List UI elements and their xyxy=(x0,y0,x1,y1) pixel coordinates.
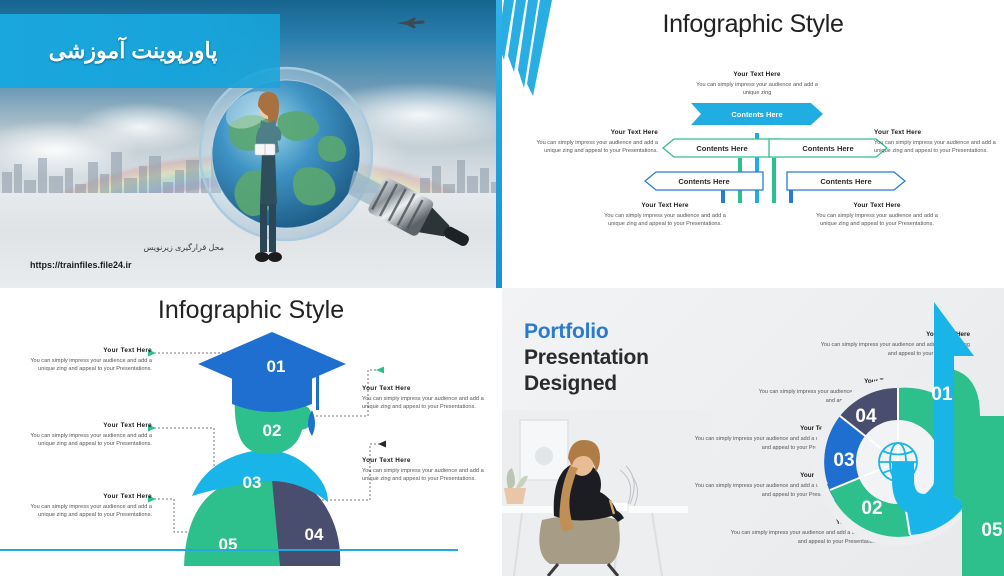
text-block-left-mid: Your Text Here You can simply impress yo… xyxy=(536,128,658,156)
segment-number-03: 03 xyxy=(833,450,854,471)
step-number-02: 02 xyxy=(263,421,282,440)
text-block-1: Your Text Here You can simply impress yo… xyxy=(12,346,152,374)
text-block-right-bottom: Your Text Here You can simply impress yo… xyxy=(812,201,942,229)
banner-label-1: Contents Here xyxy=(731,110,782,119)
page-title: Infographic Style xyxy=(502,10,1004,39)
text-block-heading: Your Text Here xyxy=(362,384,494,393)
text-block-4: Your Text Here You can simply impress yo… xyxy=(362,456,494,484)
text-block-heading: Your Text Here xyxy=(874,128,996,137)
cover-title: پاورپوینت آموزشی xyxy=(0,14,266,88)
text-block-body: You can simply impress your audience and… xyxy=(362,467,494,483)
text-block-heading: Your Text Here xyxy=(536,128,658,137)
text-block-heading: Your Text Here xyxy=(12,492,152,501)
banner-label-2: Contents Here xyxy=(696,144,747,153)
banner-contents-2[interactable]: Contents Here xyxy=(662,138,782,158)
segment-number-05: 05 xyxy=(981,520,1003,541)
lightbulb-earth-image xyxy=(178,62,478,252)
portfolio-title-line2: Presentation xyxy=(524,346,649,370)
text-block-heading: Your Text Here xyxy=(12,421,152,430)
student-girl-image xyxy=(246,86,290,266)
stem-05 xyxy=(789,190,793,203)
text-block-body: You can simply impress your audience and… xyxy=(874,139,996,155)
woman-at-desk-photo xyxy=(502,410,712,576)
baseline-accent xyxy=(0,549,458,551)
step-number-04: 04 xyxy=(305,525,324,544)
portfolio-slide[interactable]: Portfolio Presentation Designed xyxy=(502,288,1004,576)
text-block-heading: Your Text Here xyxy=(692,70,822,79)
text-block-3: Your Text Here You can simply impress yo… xyxy=(12,421,152,449)
head-infographic-slide[interactable]: Infographic Style Contents Here Contents… xyxy=(502,0,1004,288)
slide-grid: پاورپوینت آموزشی محل قرارگیری زیرنویس ht… xyxy=(0,0,1004,576)
cover-url[interactable]: https://trainfiles.file24.ir xyxy=(30,260,132,270)
text-block-right-mid: Your Text Here You can simply impress yo… xyxy=(874,128,996,156)
graduate-infographic-slide[interactable]: Infographic Style xyxy=(0,288,502,576)
text-block-heading: Your Text Here xyxy=(600,201,730,210)
text-block-body: You can simply impress your audience and… xyxy=(12,432,152,448)
portfolio-title-line3: Designed xyxy=(524,372,617,396)
segment-number-01b: 01 xyxy=(931,384,953,405)
banner-contents-3[interactable]: Contents Here xyxy=(768,138,888,158)
step-number-05: 05 xyxy=(219,535,238,554)
banner-contents-5[interactable]: Contents Here xyxy=(786,171,906,191)
text-block-2: Your Text Here You can simply impress yo… xyxy=(362,384,494,412)
text-block-heading: Your Text Here xyxy=(362,456,494,465)
banner-contents-1[interactable]: Contents Here xyxy=(691,103,823,125)
cover-slide[interactable]: پاورپوینت آموزشی محل قرارگیری زیرنویس ht… xyxy=(0,0,502,288)
text-block-heading: Your Text Here xyxy=(12,346,152,355)
airplane-icon xyxy=(396,17,426,29)
text-block-body: You can simply impress your audience and… xyxy=(600,212,730,228)
banner-label-3: Contents Here xyxy=(802,144,853,153)
text-block-body: You can simply impress your audience and… xyxy=(692,81,822,97)
text-block-top: Your Text Here You can simply impress yo… xyxy=(692,70,822,98)
banner-label-4: Contents Here xyxy=(678,177,729,186)
text-block-body: You can simply impress your audience and… xyxy=(362,395,494,411)
text-block-body: You can simply impress your audience and… xyxy=(12,357,152,373)
text-block-left-bottom: Your Text Here You can simply impress yo… xyxy=(600,201,730,229)
text-block-body: You can simply impress your audience and… xyxy=(536,139,658,155)
page-title: Infographic Style xyxy=(0,296,502,325)
text-block-body: You can simply impress your audience and… xyxy=(12,503,152,519)
up-arrow-icon: 01 05 xyxy=(874,296,1004,576)
portfolio-title-accent: Portfolio xyxy=(524,320,609,344)
step-number-01: 01 xyxy=(267,357,286,376)
banner-contents-4[interactable]: Contents Here xyxy=(644,171,764,191)
graduate-figure: 01 02 03 04 05 xyxy=(176,330,376,566)
stem-03 xyxy=(772,158,776,203)
cover-subtitle: محل قرارگیری زیرنویس xyxy=(0,243,230,252)
text-block-heading: Your Text Here xyxy=(812,201,942,210)
banner-label-5: Contents Here xyxy=(820,177,871,186)
step-number-03: 03 xyxy=(243,473,262,492)
text-block-5: Your Text Here You can simply impress yo… xyxy=(12,492,152,520)
text-block-body: You can simply impress your audience and… xyxy=(812,212,942,228)
